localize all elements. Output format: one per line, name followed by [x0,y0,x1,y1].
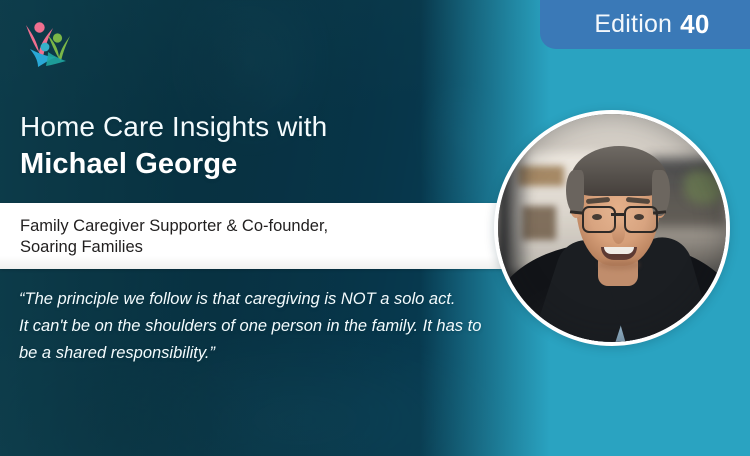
role-band: Family Caregiver Supporter & Co-founder,… [0,203,517,269]
quote-line-2: It can't be on the shoulders of one pers… [19,313,499,340]
role-line-1: Family Caregiver Supporter & Co-founder, [20,216,440,237]
headline-line-2-guest-name: Michael George [20,145,460,183]
edition-number: 40 [680,9,710,40]
quote-line-1: “The principle we follow is that caregiv… [19,286,499,313]
edition-label: Edition [594,10,672,39]
role-text: Family Caregiver Supporter & Co-founder,… [20,216,440,258]
headline-block: Home Care Insights with Michael George [20,109,460,183]
role-line-2: Soaring Families [20,237,440,258]
headline-line-1: Home Care Insights with [20,109,460,145]
quote-block: “The principle we follow is that caregiv… [19,286,499,367]
guest-portrait-avatar [494,110,730,346]
newsletter-banner: Edition 40 Home Care Insights with Micha… [0,0,750,456]
edition-badge: Edition 40 [540,0,750,49]
soaring-families-logo-icon [18,16,74,68]
quote-line-3: be a shared responsibility.” [19,340,499,367]
portrait-vignette [498,114,726,342]
